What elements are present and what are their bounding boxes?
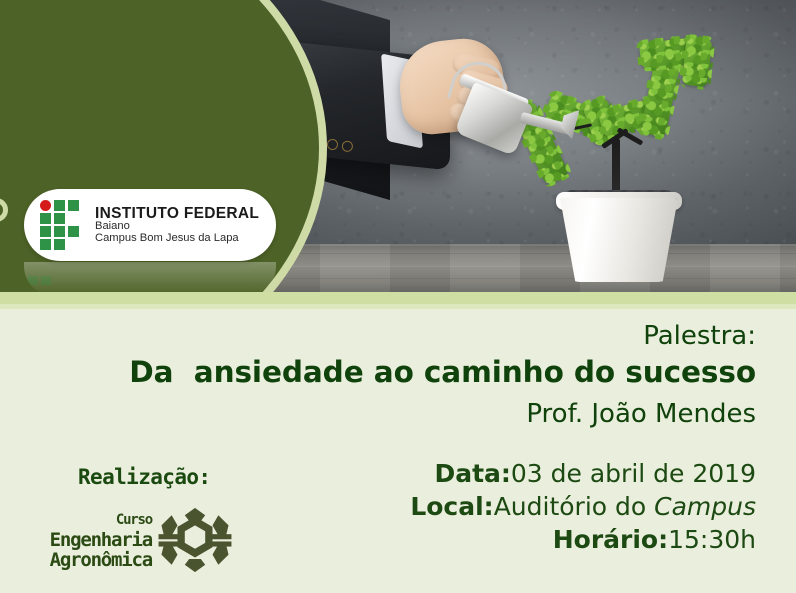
event-title: Da ansiedade ao caminho do sucesso <box>129 355 756 389</box>
event-poster: Campus Bom Jesus da Lapa INSTITUTO FEDER… <box>0 0 796 593</box>
detail-row-horario: Horário:15:30h <box>410 523 756 556</box>
course-line-3: Agronômica <box>0 550 152 570</box>
course-line-2: Engenharia <box>0 530 152 550</box>
sleeve-button <box>341 140 353 152</box>
content-area: Palestra: Da ansiedade ao caminho do suc… <box>0 309 796 593</box>
detail-label-horario: Horário: <box>553 525 668 554</box>
event-kicker: Palestra: <box>643 321 756 351</box>
event-speaker: Prof. João Mendes <box>526 399 756 429</box>
course-name: Curso Engenharia Agronômica <box>0 510 152 570</box>
event-details: Data:03 de abril de 2019 Local:Auditório… <box>410 457 756 556</box>
if-logo-text: INSTITUTO FEDERAL Baiano Campus Bom Jesu… <box>95 206 259 245</box>
detail-row-local: Local:Auditório do Campus <box>410 490 756 523</box>
detail-value-horario: 15:30h <box>668 525 756 554</box>
if-logo-line3: Campus Bom Jesus da Lapa <box>95 233 259 244</box>
detail-label-data: Data: <box>434 459 510 488</box>
detail-value-local-italic: Campus <box>654 492 756 521</box>
organizer-block: Curso Engenharia Agronômica <box>0 505 300 575</box>
organizer-heading: Realização: <box>78 465 210 489</box>
logo-reflection: Campus Bom Jesus da Lapa <box>24 262 276 292</box>
detail-label-local: Local: <box>410 492 493 521</box>
if-red-dot <box>40 200 51 211</box>
hero-photo: Campus Bom Jesus da Lapa INSTITUTO FEDER… <box>0 0 796 292</box>
detail-value-data: 03 de abril de 2019 <box>511 459 756 488</box>
agronomia-hexagon-logo <box>158 505 232 575</box>
if-grid-mark <box>40 200 84 250</box>
if-logo-title: INSTITUTO FEDERAL <box>95 206 259 222</box>
detail-value-local: Auditório do <box>494 492 654 521</box>
plant-trunk <box>612 138 620 196</box>
white-pot <box>560 198 678 282</box>
course-line-1: Curso <box>0 510 152 530</box>
leaf-arrow-head <box>682 37 713 87</box>
detail-row-data: Data:03 de abril de 2019 <box>410 457 756 490</box>
divider-band <box>0 292 796 304</box>
sleeve-button <box>326 138 338 150</box>
instituto-federal-logo: INSTITUTO FEDERAL Baiano Campus Bom Jesu… <box>24 189 276 261</box>
